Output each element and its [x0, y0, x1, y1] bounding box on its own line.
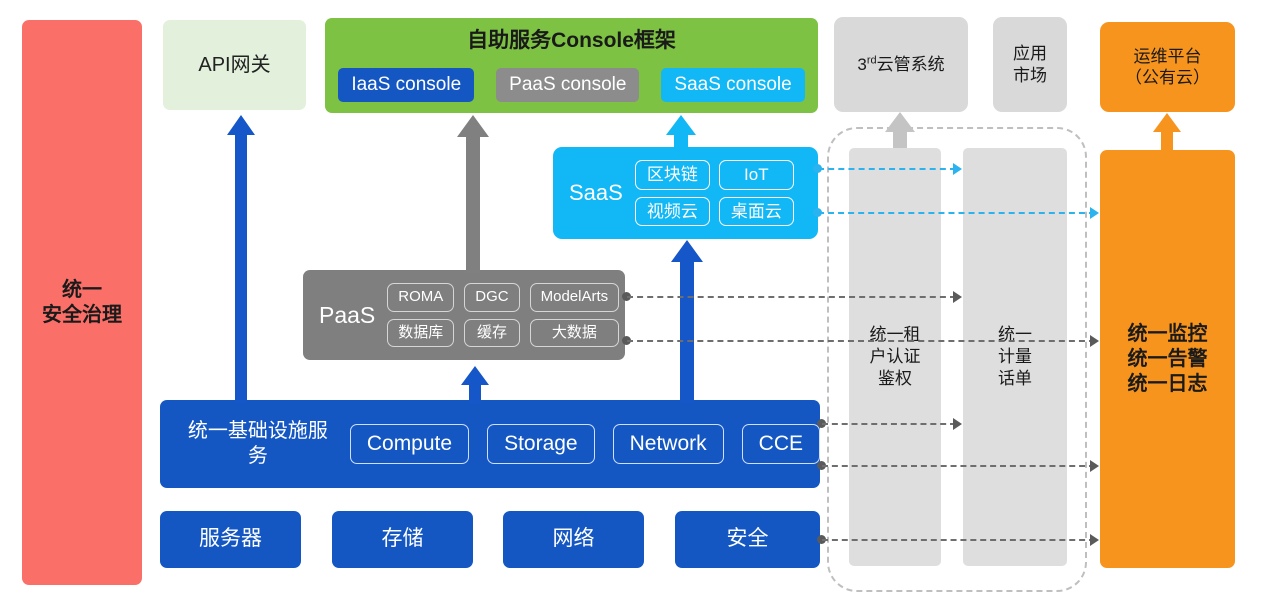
- unified-infrastructure-service-bar: 统一基础设施服务 Compute Storage Network CCE: [160, 400, 820, 488]
- connector-iaas-to-ops: [822, 465, 1095, 467]
- iaas-bar-label: 统一基础设施服务: [178, 419, 338, 469]
- paas-service-bigdata[interactable]: 大数据: [530, 319, 620, 348]
- ops-panel-line-2: 统一告警: [1128, 347, 1208, 372]
- api-gateway-box[interactable]: API网关: [163, 20, 306, 110]
- saas-service-grid: 区块链 IoT 视频云 桌面云: [635, 160, 794, 226]
- unified-metering-billing-column[interactable]: 统一 计量 话单: [963, 148, 1067, 566]
- hardware-label-network: 网络: [553, 526, 595, 552]
- connector-saas-to-auth: [818, 168, 956, 170]
- orange-arrow-to-ops-platform: [1152, 113, 1182, 151]
- iaas-service-network[interactable]: Network: [613, 424, 724, 464]
- architecture-diagram: 统一 安全治理 API网关 自助服务Console框架 IaaS console…: [0, 0, 1265, 605]
- metering-line-1: 统一: [998, 324, 1032, 346]
- hardware-box-security[interactable]: 安全: [675, 511, 820, 568]
- blue-arrow-iaas-to-paas: [460, 366, 490, 404]
- metering-line-2: 计量: [998, 346, 1032, 368]
- paas-layer: PaaS ROMA DGC ModelArts 数据库 缓存 大数据: [303, 270, 625, 360]
- iaas-service-row: Compute Storage Network CCE: [350, 424, 820, 464]
- hardware-box-storage[interactable]: 存储: [332, 511, 473, 568]
- third-party-cloud-mgmt-box[interactable]: 3rd云管系统: [834, 17, 968, 112]
- saas-service-video-cloud[interactable]: 视频云: [635, 197, 710, 226]
- connector-arrow-saas-auth: [953, 163, 962, 175]
- hardware-label-storage: 存储: [382, 526, 424, 552]
- console-frame-title: 自助服务Console框架: [325, 28, 818, 54]
- third-party-label: 3rd云管系统: [857, 54, 944, 75]
- paas-console-chip[interactable]: PaaS console: [496, 68, 639, 102]
- ops-panel-line-1: 统一监控: [1128, 322, 1208, 347]
- tenant-auth-line-2: 户认证: [870, 346, 921, 368]
- connector-arrow-iaas-auth: [953, 418, 962, 430]
- connector-arrow-hardware-ops: [1090, 534, 1099, 546]
- ops-platform-line-1: 运维平台: [1134, 46, 1202, 67]
- paas-service-grid: ROMA DGC ModelArts 数据库 缓存 大数据: [387, 283, 619, 348]
- saas-layer-label: SaaS: [569, 179, 623, 207]
- connector-paas-to-ops: [627, 340, 1095, 342]
- connector-hardware-to-ops: [822, 539, 1095, 541]
- hardware-label-security: 安全: [727, 526, 769, 552]
- console-chip-row: IaaS console PaaS console SaaS console: [338, 68, 804, 102]
- connector-arrow-paas-ops: [1090, 335, 1099, 347]
- paas-service-roma[interactable]: ROMA: [387, 283, 454, 312]
- hardware-label-server: 服务器: [199, 526, 262, 552]
- tenant-auth-line-3: 鉴权: [878, 368, 912, 390]
- saas-service-desktop-cloud[interactable]: 桌面云: [719, 197, 794, 226]
- unified-monitoring-panel: 统一监控 统一告警 统一日志: [1100, 150, 1235, 568]
- iaas-console-chip[interactable]: IaaS console: [338, 68, 474, 102]
- metering-line-3: 话单: [998, 368, 1032, 390]
- tenant-auth-line-1: 统一租: [870, 324, 921, 346]
- hardware-box-network[interactable]: 网络: [503, 511, 644, 568]
- connector-arrow-iaas-ops: [1090, 460, 1099, 472]
- saas-service-iot[interactable]: IoT: [719, 160, 794, 189]
- app-market-box[interactable]: 应用 市场: [993, 17, 1067, 112]
- app-market-line-1: 应用: [1013, 43, 1047, 64]
- iaas-service-compute[interactable]: Compute: [350, 424, 469, 464]
- api-gateway-label: API网关: [198, 53, 270, 78]
- paas-service-cache[interactable]: 缓存: [464, 319, 519, 348]
- iaas-service-storage[interactable]: Storage: [487, 424, 595, 464]
- security-line-1: 统一: [62, 278, 102, 303]
- unified-tenant-auth-column[interactable]: 统一租 户认证 鉴权: [849, 148, 941, 566]
- hardware-box-server[interactable]: 服务器: [160, 511, 301, 568]
- paas-service-dgc[interactable]: DGC: [464, 283, 519, 312]
- saas-layer: SaaS 区块链 IoT 视频云 桌面云: [553, 147, 818, 239]
- paas-layer-label: PaaS: [319, 301, 375, 330]
- connector-iaas-to-auth: [822, 423, 956, 425]
- app-market-line-2: 市场: [1013, 65, 1047, 86]
- self-service-console-frame: 自助服务Console框架 IaaS console PaaS console …: [325, 18, 818, 113]
- saas-console-chip[interactable]: SaaS console: [661, 68, 804, 102]
- connector-paas-to-auth: [627, 296, 956, 298]
- gray-arrow-to-console: [456, 115, 490, 273]
- saas-service-blockchain[interactable]: 区块链: [635, 160, 710, 189]
- connector-arrow-paas-auth: [953, 291, 962, 303]
- ops-platform-line-2: （公有云）: [1125, 67, 1210, 88]
- gray-arrow-to-third-party: [884, 112, 916, 148]
- iaas-service-cce[interactable]: CCE: [742, 424, 820, 464]
- ops-panel-line-3: 统一日志: [1128, 372, 1208, 397]
- paas-service-modelarts[interactable]: ModelArts: [530, 283, 620, 312]
- cyan-arrow-to-saas-console: [665, 115, 697, 151]
- connector-saas-to-ops: [818, 212, 1095, 214]
- connector-arrow-saas-ops: [1090, 207, 1099, 219]
- blue-arrow-to-api-gateway: [226, 115, 256, 403]
- unified-security-governance-panel: 统一 安全治理: [22, 20, 142, 585]
- ops-platform-top-box[interactable]: 运维平台 （公有云）: [1100, 22, 1235, 112]
- blue-arrow-iaas-to-saas: [670, 240, 704, 403]
- paas-service-database[interactable]: 数据库: [387, 319, 454, 348]
- security-line-2: 安全治理: [42, 303, 122, 328]
